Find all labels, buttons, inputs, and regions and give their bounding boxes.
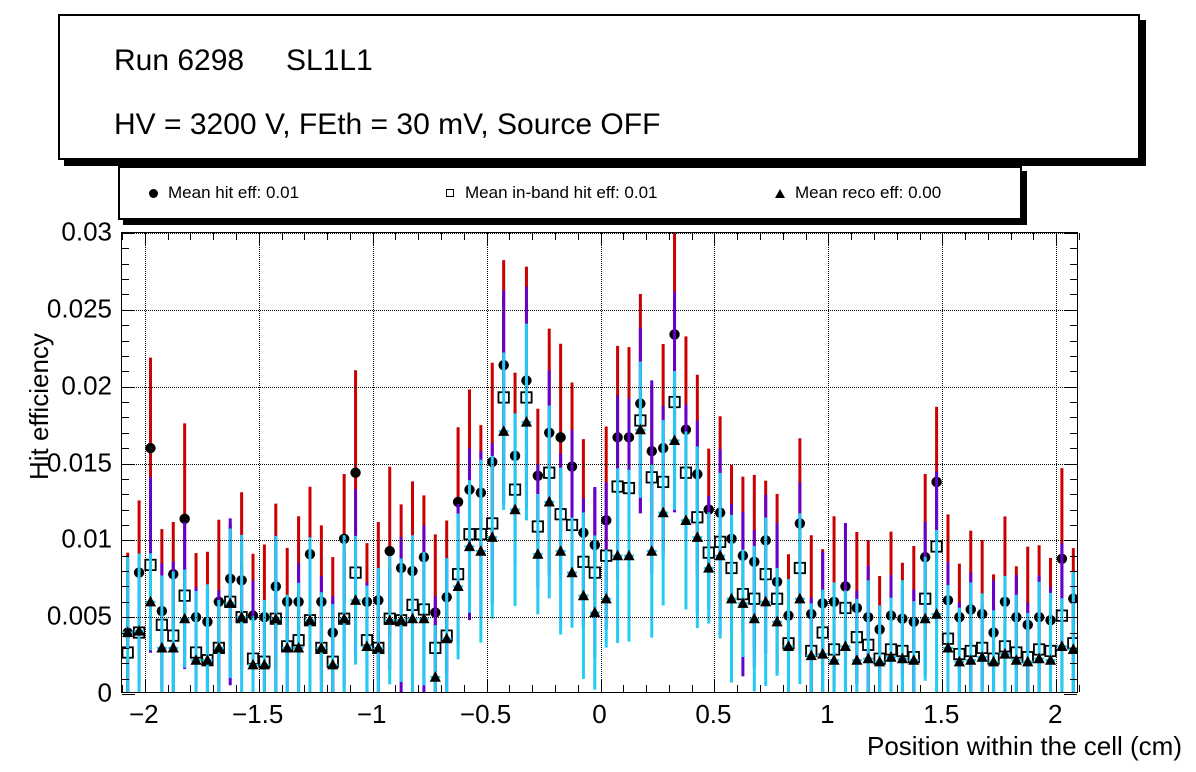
y-axis-tick-right — [1070, 248, 1077, 249]
x-axis-tick — [988, 685, 989, 692]
x-axis-tick-top — [487, 233, 488, 246]
x-axis-tick — [145, 679, 146, 692]
x-axis-tick-top — [464, 233, 465, 240]
x-tick-label: −0.5 — [460, 699, 511, 730]
y-tick-label: 0.025 — [47, 293, 112, 324]
x-axis-tick-top — [988, 233, 989, 240]
x-axis-tick-top — [213, 233, 214, 240]
x-tick-label: 1.5 — [923, 699, 959, 730]
y-axis-tick — [122, 479, 129, 480]
y-axis-tick-right — [1070, 510, 1077, 511]
y-axis-tick — [122, 279, 129, 280]
x-axis-tick-top — [760, 233, 761, 240]
x-axis-tick-top — [965, 233, 966, 240]
x-axis-tick — [1033, 685, 1034, 692]
x-axis-tick-top — [373, 233, 374, 246]
x-axis-tick — [783, 685, 784, 692]
y-axis-tick — [122, 494, 129, 495]
y-axis-tick-right — [1070, 556, 1077, 557]
x-axis-tick — [601, 679, 602, 692]
x-axis-tick-top — [395, 233, 396, 240]
y-axis-tick — [122, 679, 129, 680]
x-axis-tick-top — [327, 233, 328, 240]
x-axis-tick — [1079, 685, 1080, 692]
filled-circle-marker — [385, 546, 395, 556]
x-axis-tick — [282, 685, 283, 692]
y-tick-label: 0 — [98, 678, 112, 709]
x-axis-tick — [692, 685, 693, 692]
legend-entry-inband-hit-eff[interactable]: Mean in-band hit eff: 0.01 — [435, 168, 658, 218]
x-gridline — [373, 233, 374, 692]
x-axis-tick — [646, 685, 647, 692]
y-axis-tick-right — [1070, 648, 1077, 649]
y-axis-tick — [122, 356, 129, 357]
x-axis-tick-top — [282, 233, 283, 240]
legend-label-inband-hit-eff: Mean in-band hit eff: 0.01 — [465, 183, 658, 203]
x-axis-tick — [441, 685, 442, 692]
x-axis-tick-top — [737, 233, 738, 240]
x-axis-tick — [623, 685, 624, 692]
y-axis-tick — [122, 464, 135, 465]
y-axis-tick — [122, 648, 129, 649]
y-axis-tick — [122, 540, 135, 541]
y-axis-tick-right — [1070, 417, 1077, 418]
x-gridline — [714, 233, 715, 692]
x-axis-tick-top — [555, 233, 556, 240]
y-axis-tick — [122, 617, 135, 618]
x-axis-tick-top — [304, 233, 305, 240]
x-axis-tick — [395, 685, 396, 692]
x-axis-tick — [1011, 685, 1012, 692]
y-axis-tick — [122, 233, 135, 234]
x-axis-tick — [760, 685, 761, 692]
x-axis-tick — [965, 685, 966, 692]
x-axis-tick-top — [828, 233, 829, 246]
x-axis-tick-top — [920, 233, 921, 240]
y-axis-tick-right — [1070, 633, 1077, 634]
x-gridline — [259, 233, 260, 692]
y-axis-tick — [122, 294, 129, 295]
x-axis-tick-top — [874, 233, 875, 240]
y-axis-tick-right — [1070, 571, 1077, 572]
title-sample-text: SL1L1 — [286, 44, 373, 78]
x-tick-label: −1 — [357, 699, 387, 730]
y-gridline — [122, 617, 1077, 618]
x-axis-tick — [168, 685, 169, 692]
y-axis-tick-right — [1064, 233, 1077, 234]
x-axis-tick — [190, 685, 191, 692]
x-axis-tick — [897, 685, 898, 692]
x-axis-tick-top — [441, 233, 442, 240]
x-gridline — [487, 233, 488, 692]
y-axis-tick — [122, 663, 129, 664]
legend-entry-hit-eff[interactable]: Mean hit eff: 0.01 — [138, 168, 299, 218]
x-axis-tick — [920, 685, 921, 692]
x-axis-tick — [304, 685, 305, 692]
legend-entry-reco-eff[interactable]: Mean reco eff: 0.00 — [765, 168, 941, 218]
y-axis-tick-right — [1070, 433, 1077, 434]
legend-box: Mean hit eff: 0.01 Mean in-band hit eff:… — [118, 166, 1022, 220]
x-axis-tick — [259, 679, 260, 692]
x-axis-tick — [942, 679, 943, 692]
x-axis-tick-top — [851, 233, 852, 240]
y-gridline — [122, 464, 1077, 465]
x-axis-tick — [851, 685, 852, 692]
y-tick-label: 0.015 — [47, 447, 112, 478]
y-axis-tick — [122, 387, 135, 388]
x-axis-tick-top — [236, 233, 237, 240]
y-axis-tick-right — [1070, 448, 1077, 449]
x-axis-tick-top — [897, 233, 898, 240]
x-axis-tick — [1056, 679, 1057, 692]
x-axis-tick-top — [190, 233, 191, 240]
x-axis-tick-top — [1079, 233, 1080, 240]
x-gridline — [942, 233, 943, 692]
plot-canvas — [122, 233, 1077, 692]
x-axis-tick-top — [942, 233, 943, 246]
x-axis-tick — [669, 685, 670, 692]
x-axis-tick — [714, 679, 715, 692]
x-axis-tick — [373, 679, 374, 692]
x-axis-tick-top — [692, 233, 693, 240]
y-axis-tick-right — [1070, 341, 1077, 342]
y-axis-tick — [122, 264, 129, 265]
x-axis-tick — [578, 685, 579, 692]
y-axis-tick-right — [1070, 663, 1077, 664]
y-axis-tick-right — [1064, 617, 1077, 618]
x-axis-tick-top — [168, 233, 169, 240]
y-tick-label: 0.02 — [61, 370, 112, 401]
y-axis-tick — [122, 525, 129, 526]
x-tick-label: 1 — [820, 699, 834, 730]
y-axis-tick-right — [1070, 679, 1077, 680]
y-axis-tick — [122, 433, 129, 434]
y-axis-tick-right — [1064, 310, 1077, 311]
y-axis-tick-right — [1070, 371, 1077, 372]
y-tick-label: 0.01 — [61, 524, 112, 555]
x-tick-label: 2 — [1048, 699, 1062, 730]
x-axis-tick — [509, 685, 510, 692]
y-tick-label: 0.03 — [61, 217, 112, 248]
x-axis-tick — [487, 679, 488, 692]
x-axis-tick-top — [509, 233, 510, 240]
plot-area — [122, 233, 1077, 692]
y-axis-tick — [122, 448, 129, 449]
x-axis-tick-top — [578, 233, 579, 240]
x-axis-tick-top — [145, 233, 146, 246]
x-axis-tick-top — [1056, 233, 1057, 246]
x-axis-tick-top — [122, 233, 123, 240]
x-axis-tick — [532, 685, 533, 692]
x-axis-tick — [555, 685, 556, 692]
open-square-marker-icon — [435, 189, 465, 197]
y-axis-tick-right — [1064, 694, 1077, 695]
x-axis-tick — [828, 679, 829, 692]
x-tick-label: 0 — [592, 699, 606, 730]
x-gridline — [828, 233, 829, 692]
x-tick-label: −2 — [129, 699, 159, 730]
x-axis-tick-top — [646, 233, 647, 240]
y-axis-tick-right — [1070, 494, 1077, 495]
x-axis-tick-top — [532, 233, 533, 240]
y-axis-tick-right — [1070, 294, 1077, 295]
x-axis-tick-top — [806, 233, 807, 240]
x-axis-tick-top — [714, 233, 715, 246]
y-axis-tick — [122, 402, 129, 403]
y-gridline — [122, 387, 1077, 388]
legend-label-reco-eff: Mean reco eff: 0.00 — [795, 183, 941, 203]
x-gridline — [145, 233, 146, 692]
y-axis-tick — [122, 325, 129, 326]
y-axis-tick-right — [1070, 356, 1077, 357]
title-conditions-text: HV = 3200 V, FEth = 30 mV, Source OFF — [114, 108, 660, 142]
y-axis-tick-right — [1064, 540, 1077, 541]
x-axis-tick-top — [601, 233, 602, 246]
y-gridline — [122, 540, 1077, 541]
x-axis-tick-top — [1033, 233, 1034, 240]
y-axis-tick-right — [1070, 586, 1077, 587]
y-axis-tick-right — [1064, 464, 1077, 465]
x-tick-label: 0.5 — [695, 699, 731, 730]
y-axis-tick-right — [1070, 479, 1077, 480]
y-axis-tick-right — [1070, 602, 1077, 603]
y-axis-tick — [122, 694, 135, 695]
x-axis-tick-top — [259, 233, 260, 246]
y-axis-tick — [122, 556, 129, 557]
y-axis-tick — [122, 248, 129, 249]
y-axis-tick-right — [1070, 279, 1077, 280]
y-axis-tick — [122, 510, 129, 511]
y-axis-tick — [122, 310, 135, 311]
x-axis-tick — [236, 685, 237, 692]
x-axis-tick — [350, 685, 351, 692]
filled-circle-marker — [145, 443, 155, 453]
x-axis-tick — [327, 685, 328, 692]
legend-label-hit-eff: Mean hit eff: 0.01 — [168, 183, 299, 203]
y-axis-tick — [122, 633, 129, 634]
title-box: Run 6298 SL1L1 HV = 3200 V, FEth = 30 mV… — [58, 14, 1140, 160]
x-axis-tick — [122, 685, 123, 692]
x-axis-tick — [213, 685, 214, 692]
y-axis-tick — [122, 602, 129, 603]
y-axis-tick-right — [1070, 402, 1077, 403]
x-axis-tick-top — [783, 233, 784, 240]
y-tick-label: 0.005 — [47, 601, 112, 632]
x-axis-tick-top — [1011, 233, 1012, 240]
x-gridline — [601, 233, 602, 692]
x-axis-title: Position within the cell (cm) — [867, 731, 1182, 762]
y-axis-tick-right — [1070, 525, 1077, 526]
y-axis-tick-right — [1064, 387, 1077, 388]
filled-circle-marker — [555, 432, 565, 442]
x-axis-tick-top — [418, 233, 419, 240]
filled-triangle-marker-icon — [765, 189, 795, 198]
y-axis-tick — [122, 417, 129, 418]
x-axis-tick-top — [623, 233, 624, 240]
x-axis-tick — [418, 685, 419, 692]
y-axis-tick-right — [1070, 264, 1077, 265]
x-axis-tick-top — [669, 233, 670, 240]
x-tick-label: −1.5 — [232, 699, 283, 730]
x-axis-tick-top — [350, 233, 351, 240]
x-gridline — [1056, 233, 1057, 692]
x-axis-tick — [737, 685, 738, 692]
y-gridline — [122, 233, 1077, 234]
plot-frame — [121, 232, 1078, 693]
x-axis-tick — [874, 685, 875, 692]
filled-circle-marker — [350, 468, 360, 478]
y-gridline — [122, 310, 1077, 311]
filled-circle-marker-icon — [138, 189, 168, 198]
y-axis-tick — [122, 571, 129, 572]
y-axis-tick — [122, 371, 129, 372]
y-axis-tick — [122, 586, 129, 587]
title-run-text: Run 6298 — [114, 44, 244, 78]
x-axis-tick — [806, 685, 807, 692]
y-axis-tick — [122, 341, 129, 342]
x-axis-tick — [464, 685, 465, 692]
y-axis-tick-right — [1070, 325, 1077, 326]
